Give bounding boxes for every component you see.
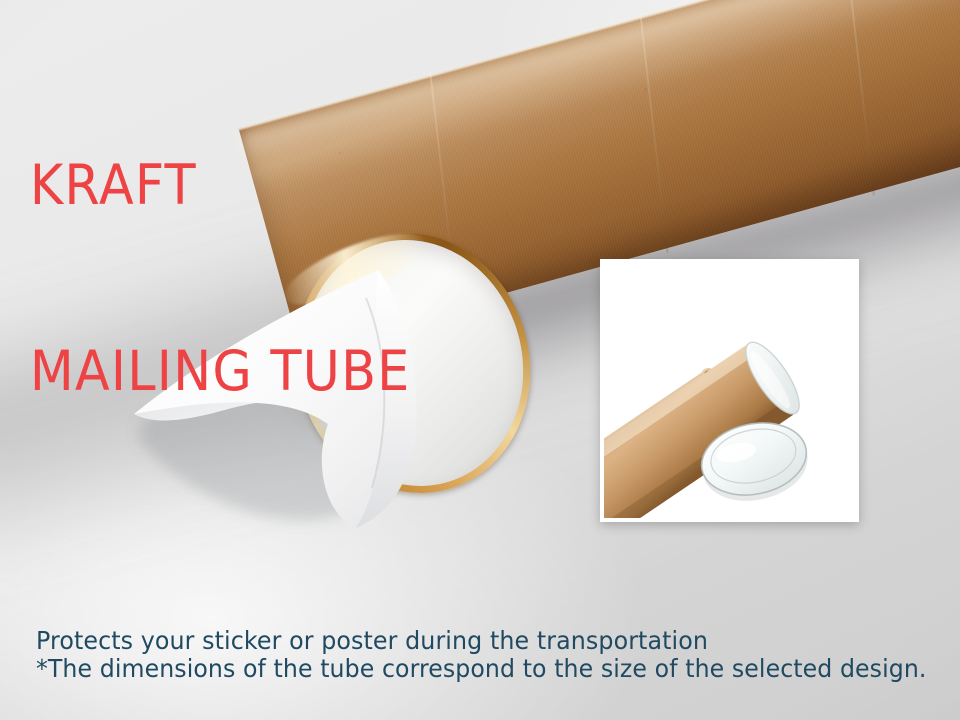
product-banner: KRAFT MAILING TUBE Protects your sticker… [0, 0, 960, 720]
headline-line-1: KRAFT [30, 154, 411, 216]
page-title: KRAFT MAILING TUBE [30, 30, 411, 526]
footnote: *The dimensions of the tube correspond t… [36, 653, 927, 685]
inset-product-photo [600, 259, 859, 522]
inset-photo-canvas [604, 263, 855, 518]
kraft-tube-seam [639, 14, 668, 253]
kraft-tube-seam [846, 0, 875, 196]
feature-list: Protects your sticker or poster during t… [36, 556, 771, 720]
headline-line-2: MAILING TUBE [30, 340, 411, 402]
